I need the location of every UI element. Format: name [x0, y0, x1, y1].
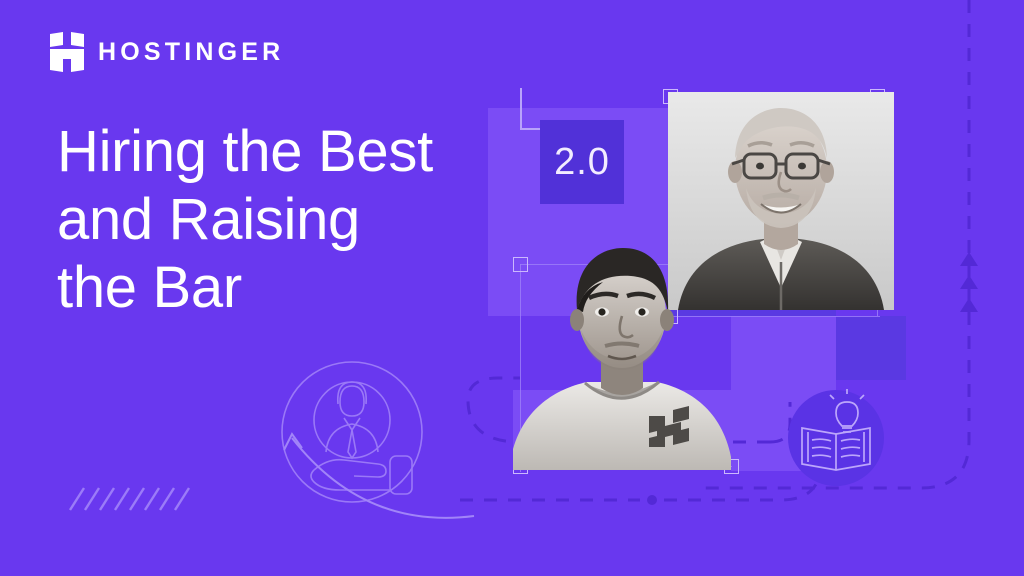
hostinger-h-mark	[50, 32, 84, 72]
podcast-cover-canvas: 2.0	[0, 0, 1024, 576]
curved-up-arrow-icon	[246, 420, 476, 530]
brand-logo-wordmark: HOSTINGER	[98, 38, 284, 67]
headline-line-3: the Bar	[57, 254, 527, 322]
bg-block-far-right	[836, 316, 906, 380]
version-badge-label: 2.0	[554, 141, 610, 184]
headline-line-2: and Raising	[57, 186, 527, 254]
page-title: Hiring the Best and Raising the Bar	[57, 118, 527, 322]
version-badge: 2.0	[540, 120, 624, 204]
headline-line-1: Hiring the Best	[57, 118, 527, 186]
triple-up-chevron-icon	[960, 252, 978, 312]
speaker-photo-bottom	[513, 238, 731, 470]
brand-logo[interactable]: HOSTINGER	[50, 32, 284, 72]
diagonal-hatch-marks	[68, 482, 193, 516]
book-lightbulb-icon	[786, 388, 886, 488]
